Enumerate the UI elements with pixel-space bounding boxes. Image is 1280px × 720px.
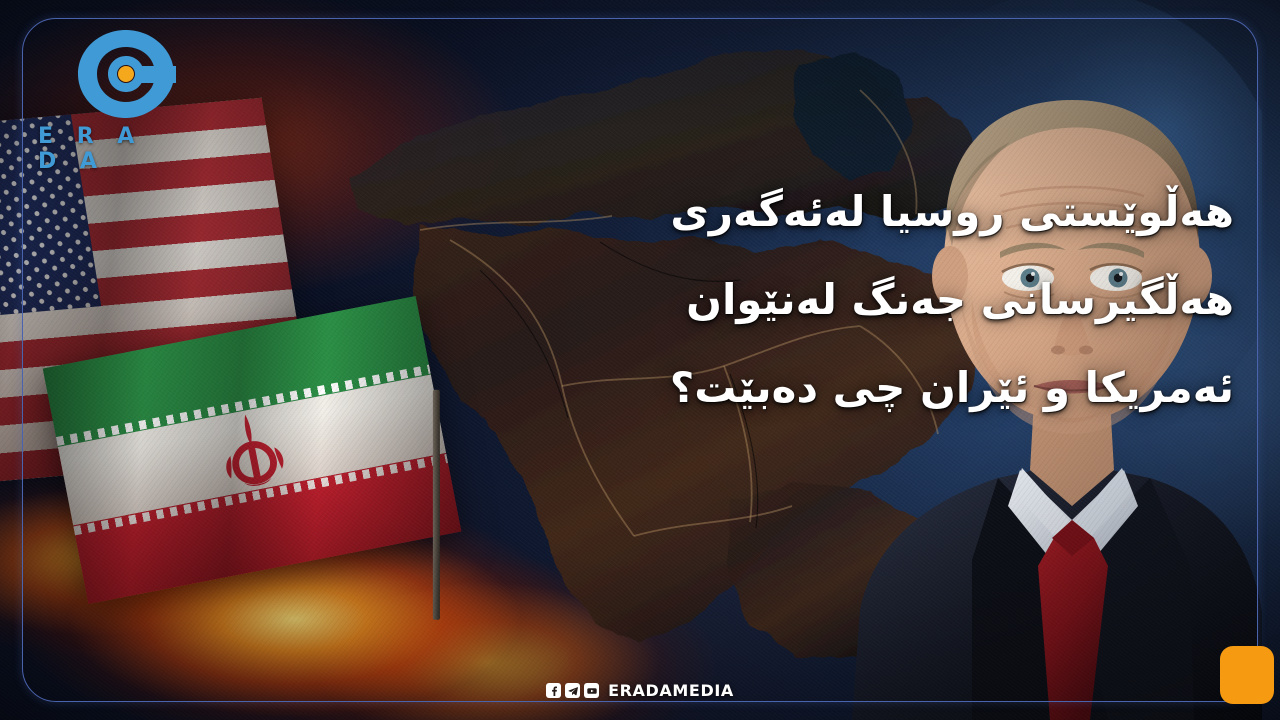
footer-brand-text: ERADAMEDIA (608, 681, 734, 700)
erada-e-logo-icon (74, 26, 178, 122)
social-icons (546, 683, 599, 698)
footer-brand: ERADAMEDIA (0, 681, 1280, 700)
youtube-icon[interactable] (584, 683, 599, 698)
headline-line-1: هەڵوێستی روسیا لەئەگەری (334, 168, 1234, 256)
erada-wordmark: E R A D A (38, 124, 178, 174)
headline: هەڵوێستی روسیا لەئەگەری هەڵگیرسانی جەنگ … (334, 168, 1234, 432)
orange-corner-accent (1220, 646, 1274, 704)
news-poster: هەڵوێستی روسیا لەئەگەری هەڵگیرسانی جەنگ … (0, 0, 1280, 720)
headline-line-3: ئەمریکا و ئێران چی دەبێت؟ (334, 344, 1234, 432)
telegram-icon[interactable] (565, 683, 580, 698)
facebook-icon[interactable] (546, 683, 561, 698)
erada-logo[interactable]: E R A D A (38, 26, 178, 174)
headline-line-2: هەڵگیرسانی جەنگ لەنێوان (334, 256, 1234, 344)
